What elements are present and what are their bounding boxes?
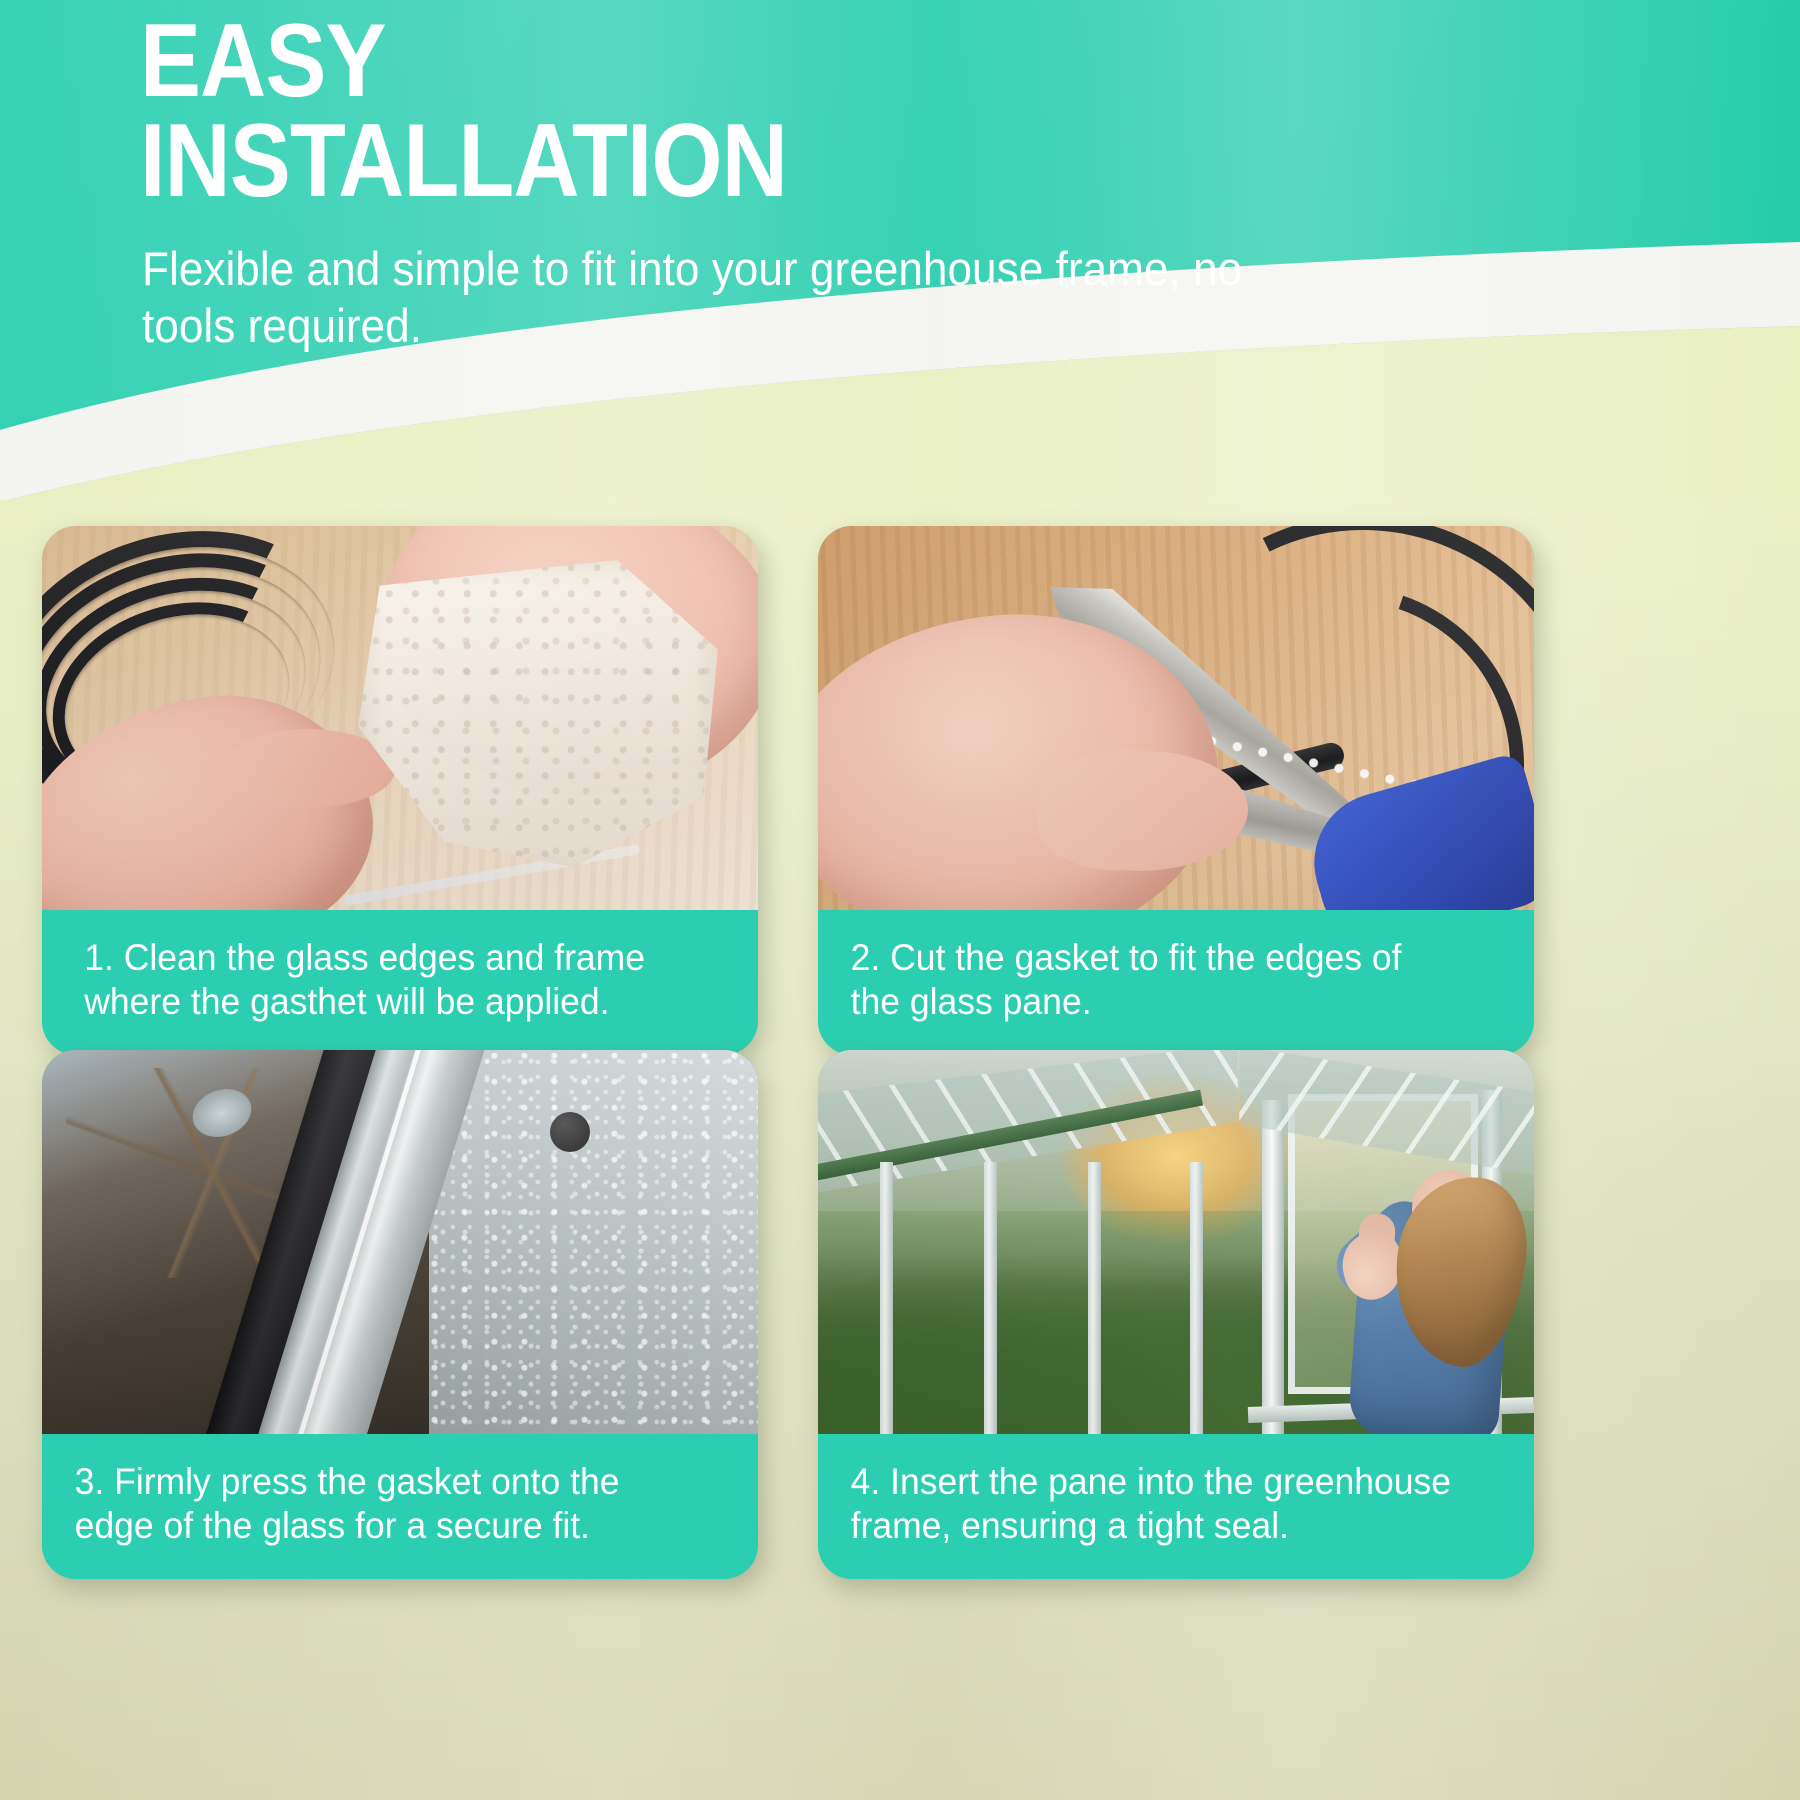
frame-mullion [880, 1162, 893, 1434]
steps-grid: 1. Clean the glass edges and frame where… [0, 508, 1800, 1800]
step-card-1[interactable]: 1. Clean the glass edges and frame where… [42, 526, 758, 1055]
step-card-3[interactable]: 3. Firmly press the gasket onto the edge… [42, 1050, 758, 1579]
step-4-photo [818, 1050, 1534, 1434]
page-subtitle: Flexible and simple to fit into your gre… [142, 240, 1326, 355]
page-title: EASY INSTALLATION [140, 12, 787, 212]
step-3-photo [42, 1050, 758, 1434]
step-2-photo: STAINLESS [818, 526, 1534, 910]
step-card-2[interactable]: STAINLESS 2. Cut the gasket to fit the e… [818, 526, 1534, 1055]
frame-knob [550, 1112, 590, 1152]
header-banner: EASY INSTALLATION Flexible and simple to… [0, 0, 1800, 500]
woman-fitting-pane [1284, 1130, 1534, 1434]
frame-mullion [1190, 1162, 1203, 1434]
step-3-caption: 3. Firmly press the gasket onto the edge… [42, 1434, 729, 1579]
step-2-caption: 2. Cut the gasket to fit the edges of th… [818, 910, 1505, 1055]
infographic-poster: EASY INSTALLATION Flexible and simple to… [0, 0, 1800, 1800]
frame-mullion [1088, 1162, 1101, 1434]
forearm [1355, 1212, 1396, 1292]
step-4-caption: 4. Insert the pane into the greenhouse f… [818, 1434, 1505, 1579]
frame-mullion [984, 1162, 997, 1434]
step-1-caption: 1. Clean the glass edges and frame where… [42, 910, 729, 1055]
step-1-photo [42, 526, 758, 910]
condensation-droplets [429, 1050, 758, 1434]
step-card-4[interactable]: 4. Insert the pane into the greenhouse f… [818, 1050, 1534, 1579]
frame-post-left [1262, 1100, 1284, 1434]
